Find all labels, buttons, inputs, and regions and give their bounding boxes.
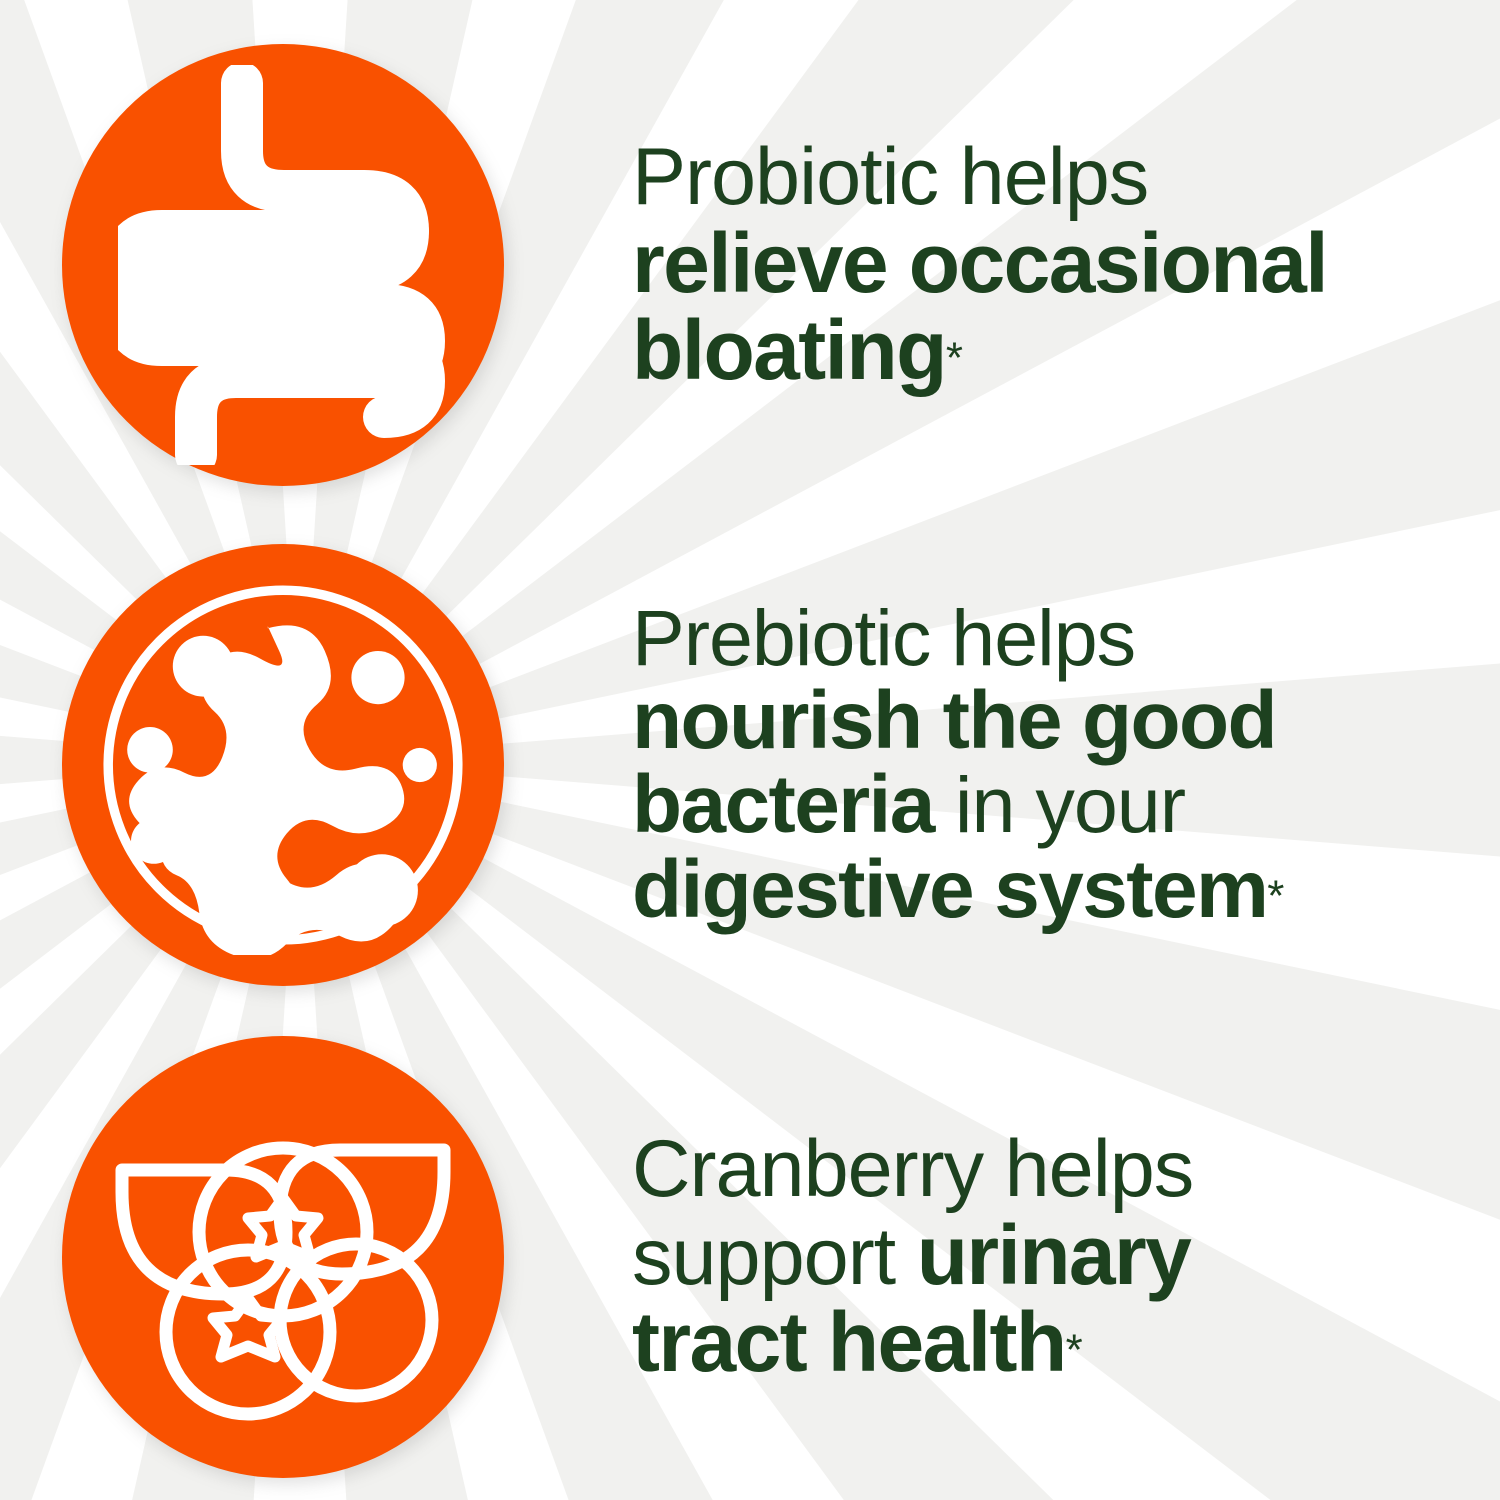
- cranberry-icon: [108, 1092, 458, 1422]
- benefit-text: Cranberry helpssupport urinarytract heal…: [632, 1128, 1500, 1387]
- cranberry-icon-badge: [62, 1036, 504, 1478]
- disclaimer-asterisk: *: [1066, 1326, 1083, 1375]
- benefit-text-line: bloating*: [632, 307, 1500, 394]
- benefit-text-line: bacteria in your: [632, 763, 1500, 848]
- disclaimer-asterisk: *: [946, 334, 963, 383]
- disclaimer-asterisk: *: [1267, 872, 1284, 921]
- benefit-text-segment: Prebiotic helps: [632, 593, 1135, 682]
- benefit-text-segment: bloating: [632, 303, 946, 397]
- benefit-text-line: nourish the good: [632, 679, 1500, 764]
- benefit-text-segment: relieve occasional: [632, 216, 1327, 310]
- benefit-text-line: Prebiotic helps: [632, 597, 1500, 679]
- benefit-text-line: Cranberry helps: [632, 1128, 1500, 1212]
- benefit-text: Probiotic helpsrelieve occasionalbloatin…: [632, 136, 1500, 394]
- microbiome-icon-badge: [62, 544, 504, 986]
- benefit-text-line: tract health*: [632, 1299, 1500, 1386]
- intestine-icon: [118, 65, 448, 465]
- benefit-text-segment: Cranberry helps: [632, 1124, 1193, 1214]
- benefit-text-line: relieve occasional: [632, 220, 1500, 307]
- benefit-text-segment: nourish the good: [632, 675, 1276, 766]
- benefit-text-segment: urinary: [917, 1208, 1191, 1302]
- benefit-text-segment: tract health: [632, 1295, 1066, 1389]
- benefit-row: Prebiotic helpsnourish the goodbacteria …: [0, 530, 1500, 1000]
- benefit-text-line: support urinary: [632, 1212, 1500, 1300]
- benefit-text-line: Probiotic helps: [632, 136, 1500, 220]
- benefit-text-segment: Probiotic helps: [632, 132, 1148, 222]
- benefit-row: Cranberry helpssupport urinarytract heal…: [0, 1022, 1500, 1492]
- microbiome-petri-dish-icon: [93, 575, 473, 955]
- benefits-infographic: Probiotic helpsrelieve occasionalbloatin…: [0, 0, 1500, 1500]
- benefit-text-segment: support: [632, 1212, 917, 1302]
- benefit-text-segment: digestive system: [632, 844, 1267, 935]
- intestine-icon-badge: [62, 44, 504, 486]
- benefit-text-line: digestive system*: [632, 848, 1500, 933]
- benefit-text-segment: bacteria: [632, 759, 955, 850]
- benefit-text-segment: in your: [955, 760, 1185, 849]
- benefit-row: Probiotic helpsrelieve occasionalbloatin…: [0, 30, 1500, 500]
- benefit-text: Prebiotic helpsnourish the goodbacteria …: [632, 597, 1500, 933]
